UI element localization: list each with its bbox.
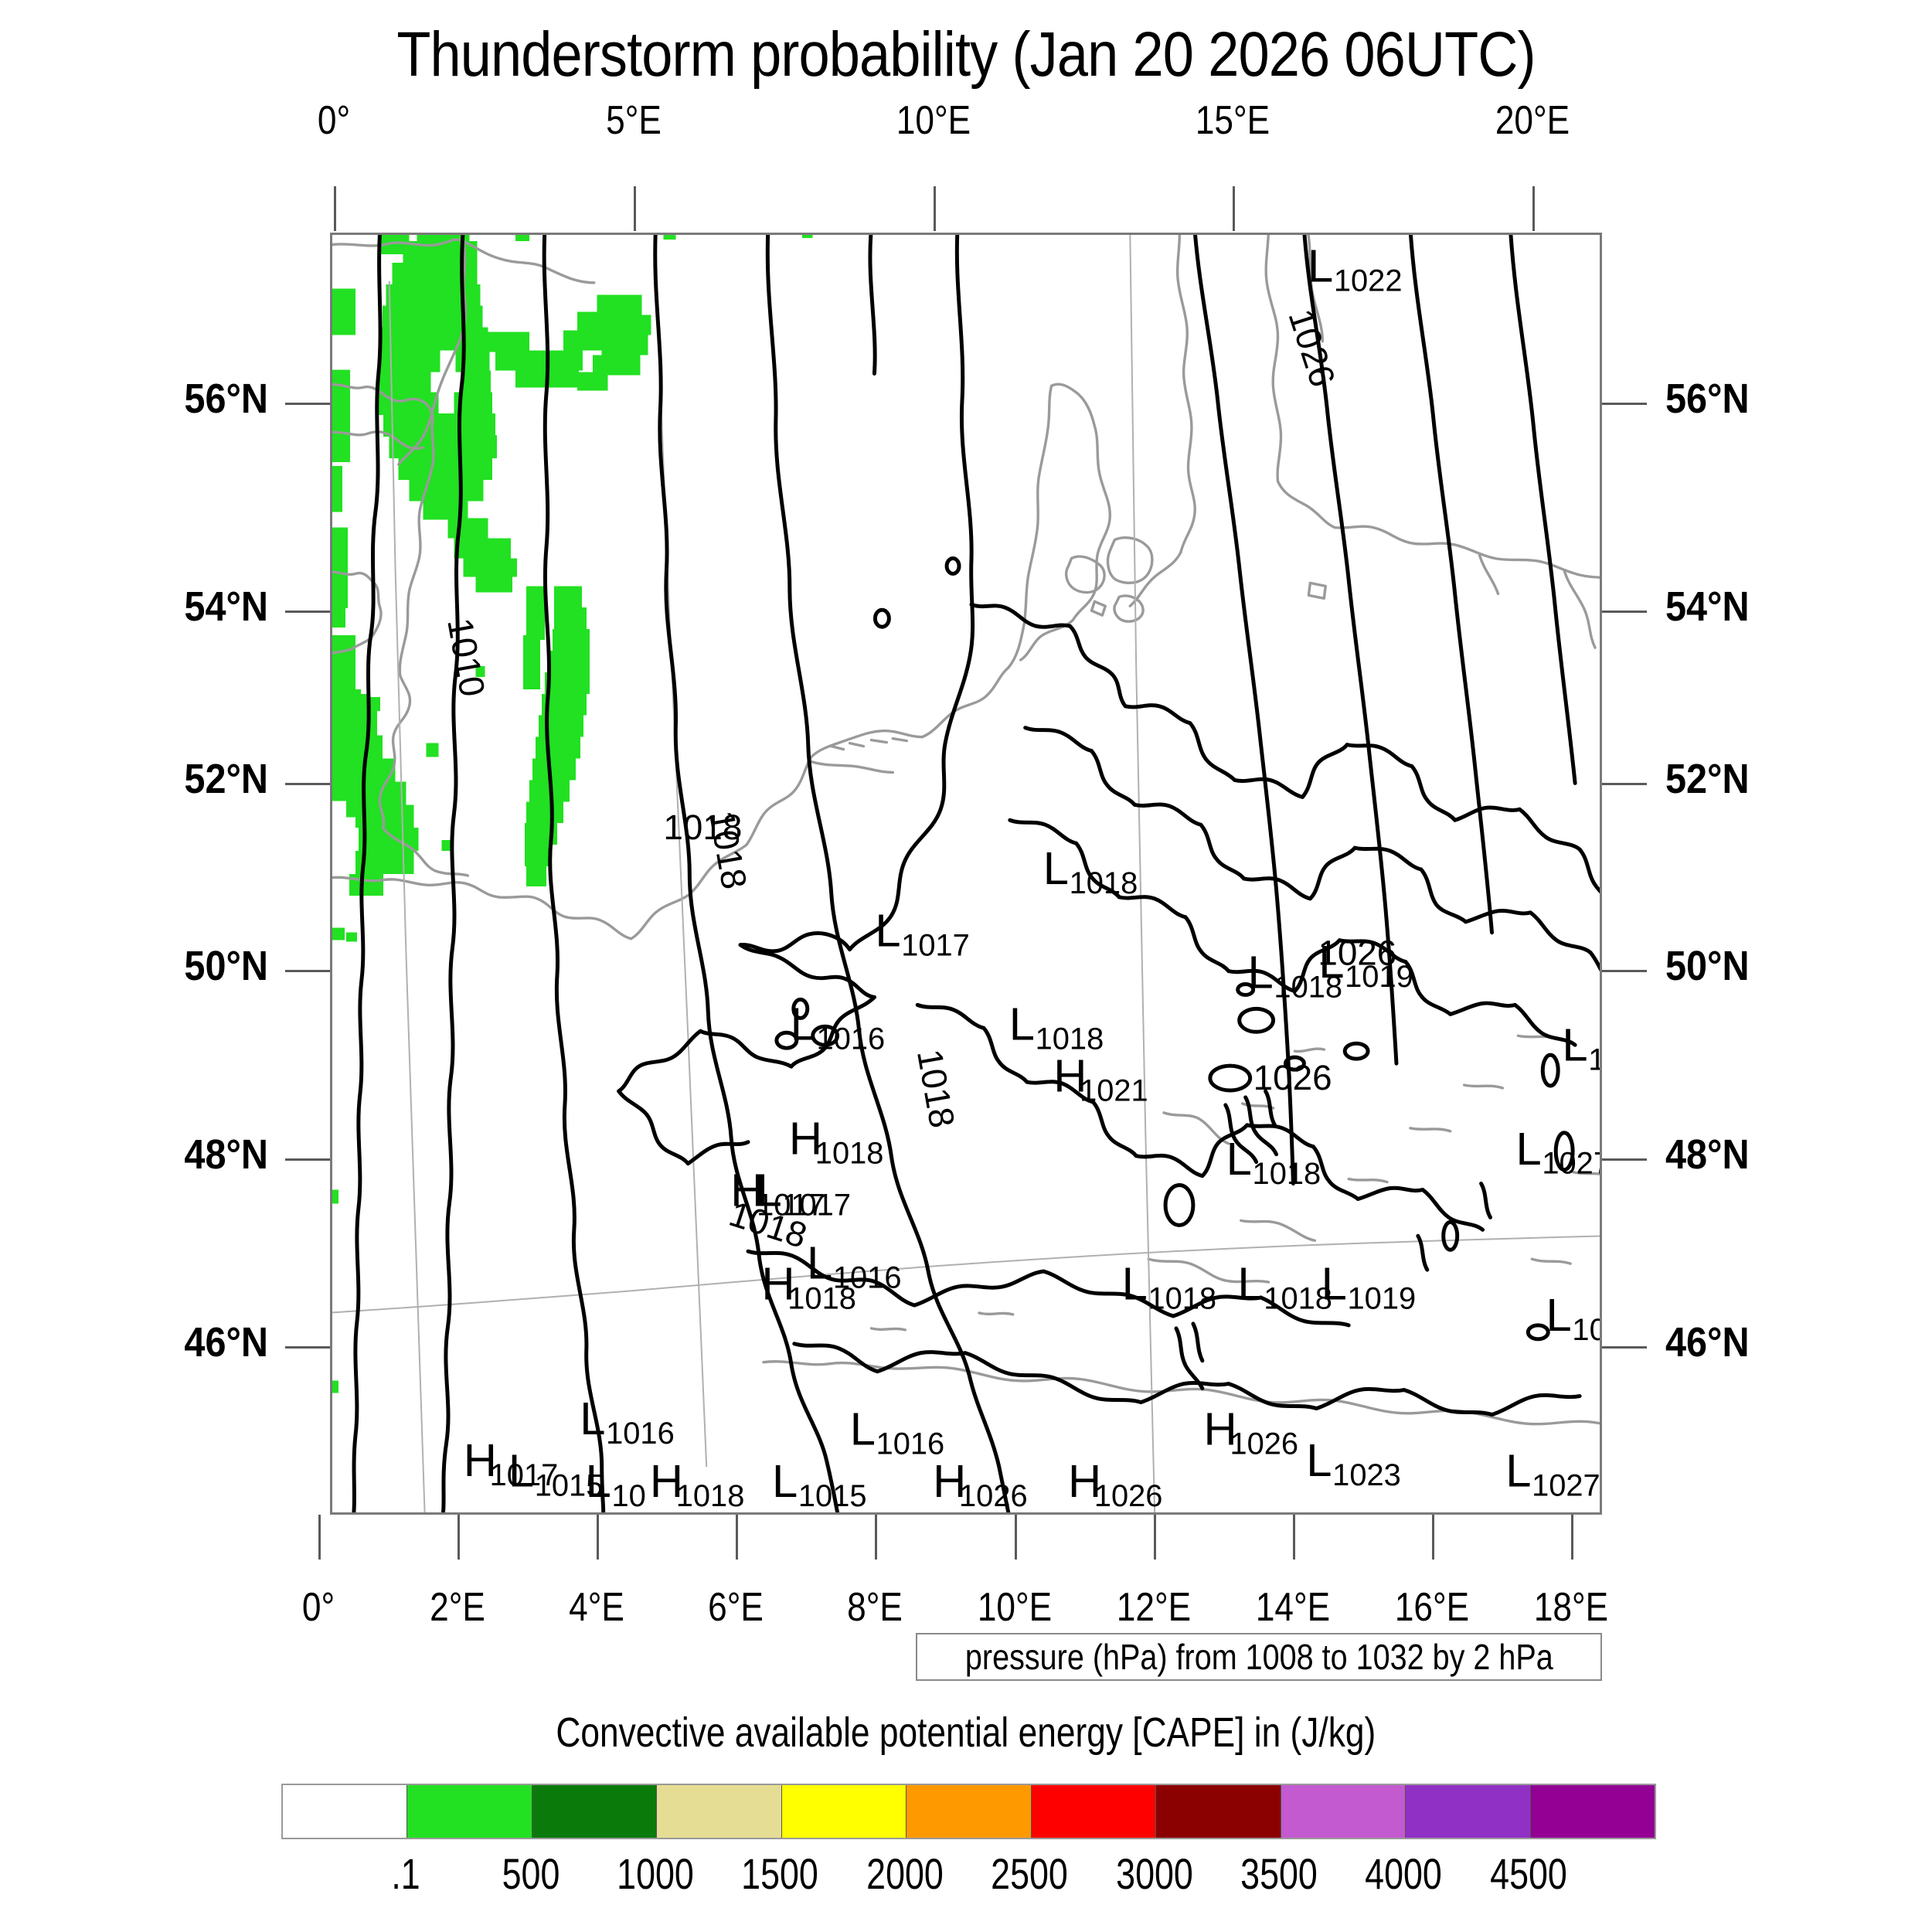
pressure-center: L1018 xyxy=(1237,1257,1332,1315)
pressure-center-type: L xyxy=(1306,1434,1332,1486)
pressure-center: L1018 xyxy=(1009,998,1104,1056)
pressure-center-type: L xyxy=(1237,1257,1263,1309)
pressure-center-type: L xyxy=(772,1455,798,1507)
pressure-center-value: 1021 xyxy=(1080,1074,1148,1108)
axis-label-left-3: 50°N xyxy=(0,942,268,990)
pressure-center-value: 10 xyxy=(611,1479,645,1512)
pressure-center-type: L xyxy=(757,1165,782,1216)
pressure-center-value: 1017 xyxy=(782,1189,851,1223)
pressure-center: L1022 xyxy=(1308,240,1403,298)
chart-page: Thunderstorm probability (Jan 20 2026 06… xyxy=(0,0,1932,1932)
pressure-center-type: L xyxy=(1515,1123,1541,1175)
pressure-center-value: 1026 xyxy=(959,1479,1028,1512)
axis-label-bottom-5: 10°E xyxy=(936,1584,1094,1631)
axis-label-right-2: 52°N xyxy=(1665,755,1932,803)
pressure-center: L1019 xyxy=(1321,1257,1417,1315)
pressure-center-value: 1026 xyxy=(1588,1043,1600,1077)
pressure-center-value: 1018 xyxy=(676,1479,745,1512)
axis-label-bottom-1: 2°E xyxy=(379,1584,536,1631)
axis-label-bottom-8: 16°E xyxy=(1353,1584,1511,1631)
tick-mark-right-5 xyxy=(1602,1346,1647,1349)
axis-label-right-4: 48°N xyxy=(1665,1131,1932,1179)
pressure-center-value: 1017 xyxy=(901,929,970,963)
axis-label-left-5: 46°N xyxy=(0,1318,268,1366)
colorbar-tick-4: 2000 xyxy=(866,1849,944,1899)
page-title: Thunderstorm probability (Jan 20 2026 06… xyxy=(116,19,1816,91)
colorbar-tick-0: .1 xyxy=(392,1849,420,1899)
pressure-center-value: 1026 xyxy=(1230,1427,1298,1461)
colorbar-band-4 xyxy=(781,1785,906,1838)
axis-label-bottom-7: 14°E xyxy=(1214,1584,1372,1631)
pressure-center-type: L xyxy=(1009,998,1035,1050)
pressure-center: H1018 xyxy=(789,1112,884,1170)
colorbar-tick-7: 3500 xyxy=(1240,1849,1318,1899)
map-plot-area: 1010 1018 1018 1018 1026 1018 1026 1026 … xyxy=(330,233,1602,1515)
tick-mark-bottom-2 xyxy=(597,1515,599,1560)
pressure-center-type: L xyxy=(1308,240,1333,291)
axis-label-top-3: 15°E xyxy=(1154,97,1311,144)
colorbar-band-8 xyxy=(1281,1785,1405,1838)
tick-mark-bottom-0 xyxy=(318,1515,321,1560)
colorbar xyxy=(281,1784,1656,1839)
axis-label-left-0: 56°N xyxy=(0,375,268,423)
colorbar-band-0 xyxy=(283,1785,406,1838)
pressure-center-value: 1026 xyxy=(1094,1479,1163,1512)
pressure-center-type: L xyxy=(1505,1444,1531,1496)
colorbar-band-5 xyxy=(906,1785,1030,1838)
tick-mark-bottom-1 xyxy=(457,1515,460,1560)
axis-label-bottom-9: 18°E xyxy=(1492,1584,1650,1631)
tick-mark-bottom-6 xyxy=(1154,1515,1156,1560)
pressure-center: L1027 xyxy=(1505,1444,1600,1502)
colorbar-band-10 xyxy=(1530,1785,1655,1838)
axis-label-left-2: 52°N xyxy=(0,755,268,803)
axis-label-left-1: 54°N xyxy=(0,583,268,631)
pressure-center-value: 1019 xyxy=(1345,960,1413,994)
pressure-center-value: 1022 xyxy=(1334,264,1403,298)
tick-mark-left-3 xyxy=(285,970,330,972)
tick-mark-top-1 xyxy=(634,186,636,231)
pressure-center-value: 1019 xyxy=(1348,1281,1417,1315)
pressure-center-value: 1016 xyxy=(817,1022,886,1056)
pressure-center: L1017 xyxy=(757,1165,852,1223)
colorbar-tick-5: 2500 xyxy=(991,1849,1068,1899)
pressure-center: L1026 xyxy=(1562,1019,1600,1077)
axis-label-bottom-3: 6°E xyxy=(657,1584,815,1631)
pressure-center-type: L xyxy=(850,1403,876,1455)
pressure-center-type: L xyxy=(1043,842,1069,894)
pressure-center-value: 1015 xyxy=(798,1479,867,1512)
tick-mark-right-3 xyxy=(1602,970,1647,972)
pressure-center: L1029 xyxy=(1546,1289,1600,1347)
pressure-caption-box: pressure (hPa) from 1008 to 1032 by 2 hP… xyxy=(916,1633,1602,1681)
pressure-center-type: L xyxy=(1562,1019,1587,1070)
pressure-center: L1016 xyxy=(850,1403,945,1461)
colorbar-band-9 xyxy=(1405,1785,1529,1838)
tick-mark-bottom-5 xyxy=(1015,1515,1017,1560)
pressure-center-value: 1027 xyxy=(1532,1468,1600,1502)
pressure-center-type: L xyxy=(791,998,816,1050)
tick-mark-top-2 xyxy=(934,186,936,231)
pressure-center-value: 1016 xyxy=(606,1417,675,1451)
pressure-center-value: 1018 xyxy=(1070,866,1138,900)
pressure-center-value: 1018 xyxy=(1148,1281,1216,1315)
pressure-center-type: L xyxy=(1122,1257,1148,1309)
pressure-center: H1026 xyxy=(933,1455,1028,1512)
axis-label-bottom-6: 12°E xyxy=(1075,1584,1233,1631)
pressure-center: L1015 xyxy=(772,1455,867,1512)
colorbar-tick-9: 4500 xyxy=(1490,1849,1567,1899)
pressure-center: L1016 xyxy=(580,1393,675,1451)
pressure-center: L1018 xyxy=(1122,1257,1217,1315)
pressure-caption-text: pressure (hPa) from 1008 to 1032 by 2 hP… xyxy=(965,1636,1553,1678)
colorbar-tick-6: 3000 xyxy=(1116,1849,1193,1899)
axis-label-right-1: 54°N xyxy=(1665,583,1932,631)
tick-mark-top-4 xyxy=(1532,186,1535,231)
pressure-center: L10 xyxy=(586,1455,646,1512)
tick-mark-left-1 xyxy=(285,611,330,613)
axis-label-top-4: 20°E xyxy=(1454,97,1611,144)
axis-label-top-0: 0° xyxy=(255,97,413,144)
colorbar-tick-labels: .150010001500200025003000350040004500 xyxy=(281,1849,1653,1903)
colorbar-band-1 xyxy=(406,1785,531,1838)
pressure-center-value: 1018 xyxy=(815,1136,884,1170)
pressure-center: L1018 xyxy=(1043,842,1138,900)
tick-mark-right-0 xyxy=(1602,403,1647,405)
pressure-center-value: 1029 xyxy=(1572,1313,1600,1347)
tick-mark-bottom-9 xyxy=(1571,1515,1573,1560)
tick-mark-right-2 xyxy=(1602,783,1647,785)
tick-mark-left-2 xyxy=(285,783,330,785)
pressure-center: H1021 xyxy=(1053,1050,1148,1108)
tick-mark-bottom-3 xyxy=(736,1515,738,1560)
colorbar-tick-8: 4000 xyxy=(1365,1849,1442,1899)
tick-mark-top-3 xyxy=(1233,186,1235,231)
tick-mark-top-0 xyxy=(334,186,336,231)
tick-mark-left-0 xyxy=(285,403,330,405)
axis-label-bottom-0: 0° xyxy=(240,1584,397,1631)
pressure-center-value: 1018 xyxy=(1253,1157,1321,1191)
pressure-center: H1026 xyxy=(1068,1455,1163,1512)
pressure-center-type: L xyxy=(1226,1133,1252,1185)
isobar-label-1018-flat: 1018 xyxy=(663,808,742,847)
pressure-center-type: L xyxy=(875,905,900,957)
axis-label-right-3: 50°N xyxy=(1665,942,1932,990)
coastline-layer xyxy=(332,235,1600,1425)
axis-label-left-4: 48°N xyxy=(0,1131,268,1179)
pressure-center-layer: L1022H1029L1031L1018L1017L1016L1018L1018… xyxy=(464,240,1600,1512)
colorbar-band-2 xyxy=(532,1785,656,1838)
colorbar-band-6 xyxy=(1031,1785,1155,1838)
isobar-label-1018-b: 1018 xyxy=(910,1046,962,1131)
pressure-center-value: 1018 xyxy=(787,1281,856,1315)
tick-mark-left-5 xyxy=(285,1346,330,1349)
tick-mark-left-4 xyxy=(285,1158,330,1161)
pressure-center: L1016 xyxy=(791,998,886,1056)
axis-label-right-5: 46°N xyxy=(1665,1318,1932,1366)
pressure-center-type: L xyxy=(586,1455,611,1507)
pressure-center-type: L xyxy=(1318,936,1344,988)
isobar-label-1026-flat-b: 1026 xyxy=(1253,1058,1332,1097)
pressure-center: L1027 xyxy=(1515,1123,1600,1181)
tick-mark-bottom-4 xyxy=(875,1515,877,1560)
pressure-center-value: 1023 xyxy=(1332,1458,1401,1492)
colorbar-band-3 xyxy=(656,1785,781,1838)
pressure-center-type: L xyxy=(509,1444,534,1496)
colorbar-band-7 xyxy=(1155,1785,1280,1838)
axis-label-top-1: 5°E xyxy=(555,97,713,144)
pressure-center-type: L xyxy=(1248,946,1274,998)
graticule-layer xyxy=(332,235,1600,1512)
colorbar-tick-3: 1500 xyxy=(742,1849,819,1899)
colorbar-title-text: Convective available potential energy [C… xyxy=(556,1709,1376,1757)
tick-mark-right-4 xyxy=(1602,1158,1647,1161)
axis-label-bottom-2: 4°E xyxy=(518,1584,675,1631)
colorbar-tick-1: 500 xyxy=(502,1849,560,1899)
isobar-label-1026-a: 1026 xyxy=(1281,304,1342,392)
pressure-center-type: L xyxy=(1546,1289,1572,1341)
axis-label-top-2: 10°E xyxy=(855,97,1012,144)
axis-label-right-0: 56°N xyxy=(1665,375,1932,423)
tick-mark-right-1 xyxy=(1602,611,1647,613)
tick-mark-bottom-8 xyxy=(1432,1515,1434,1560)
pressure-center: H1026 xyxy=(1204,1403,1299,1461)
tick-mark-bottom-7 xyxy=(1293,1515,1295,1560)
map-canvas: 1010 1018 1018 1018 1026 1018 1026 1026 … xyxy=(332,235,1600,1512)
pressure-center: L1017 xyxy=(875,905,970,963)
colorbar-title: Convective available potential energy [C… xyxy=(0,1709,1932,1757)
pressure-center: H1018 xyxy=(650,1455,745,1512)
axis-label-bottom-4: 8°E xyxy=(796,1584,954,1631)
isobar-label-1010: 1010 xyxy=(440,615,492,699)
colorbar-tick-2: 1000 xyxy=(617,1849,694,1899)
pressure-center-type: L xyxy=(580,1393,605,1444)
pressure-center: L1023 xyxy=(1306,1434,1401,1492)
pressure-center-type: L xyxy=(1321,1257,1347,1309)
pressure-center-value: 1027 xyxy=(1542,1147,1600,1181)
